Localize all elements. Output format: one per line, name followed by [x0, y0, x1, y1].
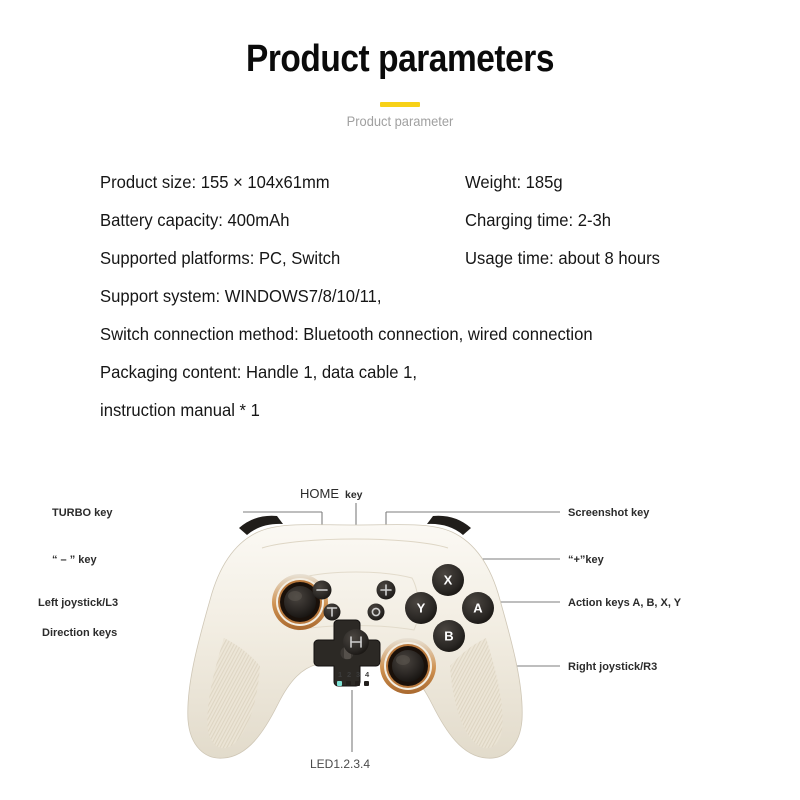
turbo-button[interactable]	[324, 604, 341, 621]
plus-button[interactable]	[377, 581, 396, 600]
spec-support-system: Support system: WINDOWS7/8/10/11,	[100, 286, 727, 307]
callout-plus-key: “+”key	[568, 554, 605, 566]
spec-instruction-manual: instruction manual * 1	[100, 400, 727, 421]
spec-row: Supported platforms: PC, Switch Usage ti…	[100, 244, 760, 272]
callout-turbo-key: TURBO key	[52, 507, 113, 519]
callout-right-joystick: Right joystick/R3	[568, 661, 657, 673]
spec-packaging-content: Packaging content: Handle 1, data cable …	[100, 362, 727, 383]
callout-home-key-suffix: key	[345, 489, 363, 501]
callout-led: LED1.2.3.4	[310, 757, 370, 771]
callout-left-joystick: Left joystick/L3	[38, 597, 118, 609]
callout-direction-keys: Direction keys	[42, 627, 117, 639]
button-x-label: X	[444, 573, 453, 588]
spec-supported-platforms: Supported platforms: PC, Switch	[100, 248, 447, 269]
spec-row: Product size: 155 × 104x61mm Weight: 185…	[100, 168, 760, 196]
spec-weight: Weight: 185g	[465, 172, 745, 193]
spec-row: Packaging content: Handle 1, data cable …	[100, 358, 760, 386]
spec-usage-time: Usage time: about 8 hours	[465, 248, 745, 269]
led-dot-2	[346, 681, 351, 686]
button-x[interactable]: X	[432, 564, 464, 596]
page-header: Product parameters Product parameter	[0, 0, 800, 129]
led-dot-4	[364, 681, 369, 686]
spec-switch-connection: Switch connection method: Bluetooth conn…	[100, 324, 727, 345]
minus-button[interactable]	[313, 581, 332, 600]
callout-action-keys: Action keys A, B, X, Y	[568, 597, 682, 609]
page-title: Product parameters	[48, 40, 752, 80]
page-subtitle: Product parameter	[32, 113, 768, 129]
button-y[interactable]: Y	[405, 592, 437, 624]
led-number-4: 4	[365, 670, 370, 679]
callout-home-key: HOME	[300, 486, 339, 501]
button-a[interactable]: A	[462, 592, 494, 624]
callout-screenshot-key: Screenshot key	[568, 507, 650, 519]
spec-row: Switch connection method: Bluetooth conn…	[100, 320, 760, 348]
callout-minus-key: “ – ” key	[52, 554, 98, 566]
spec-row: instruction manual * 1	[100, 396, 760, 424]
gamepad-callout-diagram: X Y A B 1 2 3 4 TURBO key “ –	[0, 470, 800, 800]
spec-battery-capacity: Battery capacity: 400mAh	[100, 210, 447, 231]
title-divider	[380, 102, 420, 107]
screenshot-button[interactable]	[368, 604, 385, 621]
spec-charging-time: Charging time: 2-3h	[465, 210, 745, 231]
spec-list: Product size: 155 × 104x61mm Weight: 185…	[100, 168, 760, 434]
home-button[interactable]	[343, 629, 369, 655]
spec-product-size: Product size: 155 × 104x61mm	[100, 172, 447, 193]
led-dot-1	[337, 681, 342, 686]
led-number-1: 1	[338, 670, 342, 679]
spec-row: Support system: WINDOWS7/8/10/11,	[100, 282, 760, 310]
button-y-label: Y	[417, 601, 426, 616]
button-b[interactable]: B	[433, 620, 465, 652]
led-number-3: 3	[356, 670, 360, 679]
button-a-label: A	[473, 601, 483, 616]
led-dot-3	[355, 681, 360, 686]
button-b-label: B	[444, 629, 453, 644]
right-joystick[interactable]	[380, 638, 436, 694]
spec-row: Battery capacity: 400mAh Charging time: …	[100, 206, 760, 234]
led-number-2: 2	[347, 670, 351, 679]
